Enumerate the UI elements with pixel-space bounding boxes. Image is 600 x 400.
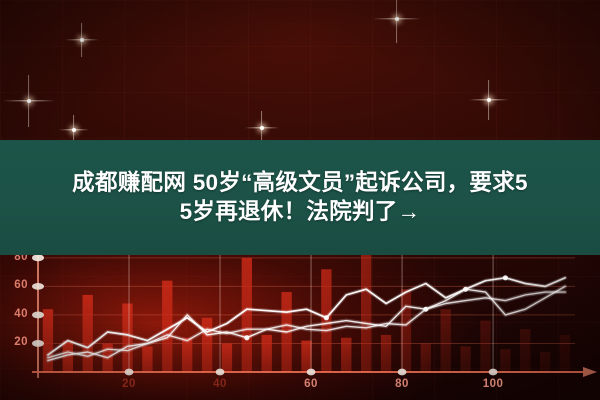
chart-bar (182, 338, 192, 372)
title-line-2: 5岁再退休！法院判了→ (180, 198, 421, 227)
chart-bar (480, 321, 490, 372)
chart-bar (460, 346, 470, 372)
chart-bar (520, 329, 530, 372)
chart-bar (202, 318, 212, 372)
chart-bar (540, 352, 550, 372)
chart-bar (83, 295, 93, 372)
y-axis-tick-label: 60 (0, 279, 28, 291)
chart-bar (361, 246, 371, 372)
thumbnail-canvas: 2040608010020406080100 成都赚配网 50岁“高级文员”起诉… (0, 0, 600, 400)
chart-bar (500, 349, 510, 372)
x-axis-tick-label: 100 (481, 378, 505, 390)
x-axis-tick-label: 40 (208, 378, 232, 390)
title-line-1: 成都赚配网 50岁“高级文员”起诉公司，要求5 (72, 169, 528, 198)
chart-bar (222, 343, 232, 372)
x-axis-arrow (583, 367, 597, 377)
chart-bar (262, 335, 272, 372)
chart-bar (242, 258, 252, 372)
x-axis-tick-label: 80 (390, 378, 414, 390)
x-axis-tick-label: 60 (299, 378, 323, 390)
chart-bar (560, 335, 570, 372)
chart-bar (142, 346, 152, 372)
chart-bar (421, 343, 431, 372)
chart-bar (441, 309, 451, 372)
y-axis-tick-label: 40 (0, 308, 28, 320)
chart-bar (321, 269, 331, 372)
x-axis-tick-label: 20 (117, 378, 141, 390)
chart-bar (381, 335, 391, 372)
chart-bar (301, 341, 311, 372)
y-axis-tick-label: 20 (0, 336, 28, 348)
title-banner: 成都赚配网 50岁“高级文员”起诉公司，要求5 5岁再退休！法院判了→ (0, 140, 600, 255)
chart-bar (341, 338, 351, 372)
